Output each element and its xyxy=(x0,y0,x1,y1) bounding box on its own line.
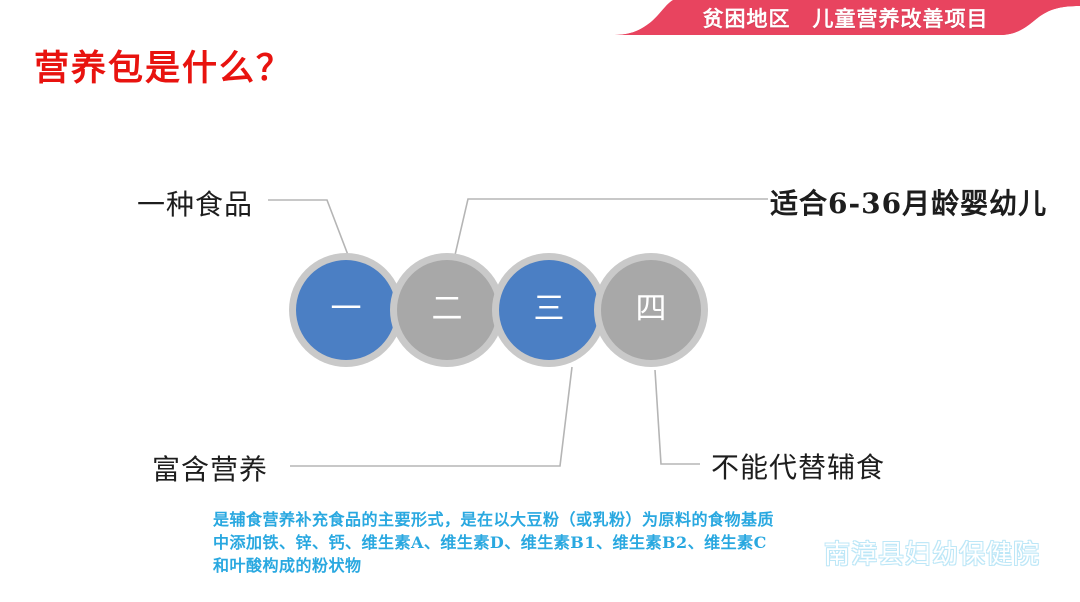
connector-top-left xyxy=(268,200,348,255)
body-paragraph: 是辅食营养补充食品的主要形式，是在以大豆粉（或乳粉）为原料的食物基质 中添加铁、… xyxy=(213,508,973,577)
body-line-3: 和叶酸构成的粉状物 xyxy=(213,554,973,577)
callout-label-top-left: 一种食品 xyxy=(137,183,253,223)
body-line-2: 中添加铁、锌、钙、维生素A、维生素D、维生素B1、维生素B2、维生素C xyxy=(213,531,973,554)
connector-bottom-right xyxy=(655,370,700,464)
callout-label-bottom-right: 不能代替辅食 xyxy=(711,446,885,486)
circle-numeral-4: 四 xyxy=(621,294,681,325)
header-tag: 贫困地区 xyxy=(703,3,791,33)
header-title-group: 贫困地区 儿童营养改善项目 xyxy=(611,0,1080,35)
circle-numeral-1: 一 xyxy=(316,294,376,325)
header-project: 儿童营养改善项目 xyxy=(813,3,989,33)
circle-numeral-2: 二 xyxy=(417,294,477,325)
slide-root: 贫困地区 儿童营养改善项目 营养包是什么？ xyxy=(0,0,1080,602)
callout-label-top-right: 适合6-36月龄婴幼儿 xyxy=(770,182,1047,222)
connector-bottom-left xyxy=(290,367,572,466)
page-title: 营养包是什么？ xyxy=(34,40,293,91)
body-line-1: 是辅食营养补充食品的主要形式，是在以大豆粉（或乳粉）为原料的食物基质 xyxy=(213,508,973,531)
callout-label-bottom-left: 富含营养 xyxy=(152,448,268,488)
connector-top-right xyxy=(455,199,768,255)
circle-numeral-3: 三 xyxy=(519,294,579,325)
